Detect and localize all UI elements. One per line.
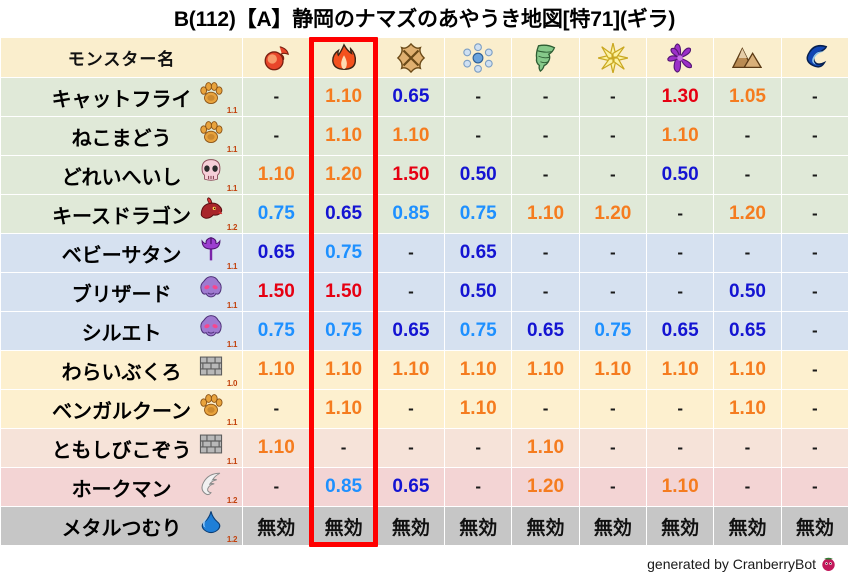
resistance-value: 1.10 — [392, 125, 429, 146]
resistance-value: - — [475, 126, 481, 145]
resistance-value: - — [543, 243, 549, 262]
resistance-cell[interactable]: 1.20 — [714, 195, 780, 233]
header-cell-fireball[interactable] — [243, 38, 309, 77]
monster-name-label: どれいへいし — [62, 161, 182, 190]
resistance-value: - — [812, 360, 818, 379]
resistance-value: - — [812, 87, 818, 106]
resistance-value: 0.85 — [392, 203, 429, 224]
resistance-value: 0.75 — [325, 320, 362, 341]
resistance-value: 1.50 — [325, 281, 362, 302]
resistance-cell[interactable]: - — [714, 468, 780, 506]
resistance-value: 1.10 — [325, 359, 362, 380]
monster-rank-badge: 1.1 — [192, 236, 238, 270]
dark-icon — [665, 43, 695, 73]
resistance-value: 1.10 — [325, 125, 362, 146]
resistance-value: 1.10 — [460, 359, 497, 380]
monster-name-label: シルエト — [82, 317, 162, 346]
resistance-cell[interactable]: - — [580, 156, 646, 194]
resistance-value: 0.65 — [392, 320, 429, 341]
resistance-cell[interactable]: - — [647, 234, 713, 272]
resistance-value: 1.10 — [527, 359, 564, 380]
resistance-value: 無効 — [459, 518, 497, 539]
resistance-value: 1.10 — [729, 398, 766, 419]
resistance-cell[interactable]: - — [580, 429, 646, 467]
resistance-cell[interactable]: 0.65 — [378, 78, 444, 116]
resistance-cell[interactable]: 0.75 — [243, 195, 309, 233]
resistance-value: 0.75 — [258, 320, 295, 341]
resistance-value: 0.75 — [325, 242, 362, 263]
resistance-cell[interactable]: - — [243, 78, 309, 116]
resistance-value: - — [408, 282, 414, 301]
resistance-value: 1.20 — [594, 203, 631, 224]
resistance-value: - — [610, 399, 616, 418]
resistance-cell[interactable]: - — [512, 156, 578, 194]
resistance-cell[interactable]: - — [378, 390, 444, 428]
resistance-cell[interactable]: 1.10 — [512, 195, 578, 233]
table-row: ホークマン1.2-0.850.65-1.20-1.10-- — [1, 468, 848, 506]
resistance-cell[interactable]: - — [714, 156, 780, 194]
resistance-value: 1.10 — [662, 125, 699, 146]
resistance-value: - — [543, 87, 549, 106]
resistance-value: - — [273, 477, 279, 496]
page-title: B(112)【A】静岡のナマズのあやうき地図[特71](ギラ) — [0, 4, 849, 36]
resistance-value: 無効 — [661, 518, 699, 539]
table-row: キースドラゴン1.20.750.650.850.751.101.20-1.20- — [1, 195, 848, 233]
resistance-cell[interactable]: 0.65 — [647, 312, 713, 350]
resistance-cell[interactable]: 無効 — [378, 507, 444, 545]
resistance-value: 0.65 — [662, 320, 699, 341]
resistance-cell[interactable]: - — [580, 117, 646, 155]
resistance-value: 0.65 — [460, 242, 497, 263]
resistance-cell[interactable]: 0.75 — [580, 312, 646, 350]
monster-level-label: 1.1 — [227, 262, 237, 271]
monster-name-label: ブリザード — [72, 278, 172, 307]
resistance-value: 1.05 — [729, 86, 766, 107]
resistance-cell[interactable]: 1.10 — [310, 351, 376, 389]
monster-name-cell[interactable]: キャットフライ1.1 — [1, 78, 242, 116]
resistance-cell[interactable]: - — [782, 312, 848, 350]
monster-name-label: ねこまどう — [72, 122, 172, 151]
resistance-cell[interactable]: 0.50 — [445, 273, 511, 311]
resistance-cell[interactable]: 0.50 — [714, 273, 780, 311]
resistance-value: - — [475, 438, 481, 457]
resistance-value: 1.10 — [392, 359, 429, 380]
resistance-cell[interactable]: 0.65 — [243, 234, 309, 272]
resistance-cell[interactable]: - — [445, 468, 511, 506]
resistance-cell[interactable]: 1.10 — [310, 390, 376, 428]
resistance-value: 1.10 — [662, 476, 699, 497]
resistance-value: 0.65 — [729, 320, 766, 341]
resistance-value: - — [745, 243, 751, 262]
resistance-cell[interactable]: 1.10 — [714, 390, 780, 428]
resistance-cell[interactable]: - — [782, 273, 848, 311]
resistance-value: 無効 — [257, 518, 295, 539]
resistance-value: - — [475, 477, 481, 496]
monster-rank-badge: 1.1 — [192, 314, 238, 348]
resistance-cell[interactable]: 1.20 — [512, 468, 578, 506]
resistance-cell[interactable]: 無効 — [243, 507, 309, 545]
resistance-value: - — [812, 126, 818, 145]
resistance-cell[interactable]: - — [782, 429, 848, 467]
tornado-icon — [531, 43, 561, 73]
monster-name-cell[interactable]: シルエト1.1 — [1, 312, 242, 350]
header-cell-dark[interactable] — [647, 38, 713, 77]
resistance-cell[interactable]: 1.30 — [647, 78, 713, 116]
table-row: ベビーサタン1.10.650.75-0.65----- — [1, 234, 848, 272]
header-monster-name: モンスター名 — [1, 38, 242, 77]
resistance-cell[interactable]: - — [782, 117, 848, 155]
resistance-value: - — [812, 399, 818, 418]
resistance-value: 1.10 — [460, 398, 497, 419]
wave-icon — [800, 43, 830, 73]
resistance-value: 1.10 — [258, 359, 295, 380]
resistance-cell[interactable]: 1.10 — [243, 351, 309, 389]
table-row: ねこまどう1.1-1.101.10---1.10-- — [1, 117, 848, 155]
resistance-value: 1.10 — [325, 86, 362, 107]
resistance-cell[interactable]: - — [445, 78, 511, 116]
brick-icon — [196, 431, 226, 465]
resistance-value: 0.75 — [460, 203, 497, 224]
monster-level-label: 1.1 — [227, 145, 237, 154]
resistance-value: - — [543, 165, 549, 184]
resistance-table-page: B(112)【A】静岡のナマズのあやうき地図[特71](ギラ) モンスター名キャ… — [0, 0, 849, 583]
resistance-value: - — [610, 282, 616, 301]
paw-icon — [196, 80, 226, 114]
resistance-cell[interactable]: - — [647, 195, 713, 233]
resistance-value: 1.50 — [258, 281, 295, 302]
resistance-value: 1.10 — [325, 398, 362, 419]
footer-credit: generated by CranberryBot — [647, 555, 837, 577]
cranberry-svg — [820, 555, 837, 572]
resistance-value: - — [812, 165, 818, 184]
monster-level-label: 1.1 — [227, 106, 237, 115]
monster-rank-badge: 1.2 — [192, 470, 238, 504]
monster-name-cell[interactable]: ホークマン1.2 — [1, 468, 242, 506]
monster-name-label: キースドラゴン — [52, 200, 191, 229]
table-row: わらいぶくろ1.01.101.101.101.101.101.101.101.1… — [1, 351, 848, 389]
table-body: モンスター名キャットフライ1.1-1.100.65---1.301.05-ねこま… — [1, 38, 848, 545]
resistance-value: 1.10 — [662, 359, 699, 380]
resistance-cell[interactable]: 無効 — [714, 507, 780, 545]
ghost-icon — [196, 275, 226, 309]
resistance-value: 0.65 — [392, 476, 429, 497]
monster-level-label: 1.1 — [227, 457, 237, 466]
resistance-value: 1.10 — [527, 437, 564, 458]
resistance-cell[interactable]: 無効 — [445, 507, 511, 545]
monster-rank-badge: 1.1 — [192, 80, 238, 114]
wing-icon — [196, 470, 226, 504]
resistance-value: 1.50 — [392, 164, 429, 185]
monster-rank-badge: 1.2 — [192, 197, 238, 231]
resistance-value: - — [610, 243, 616, 262]
monster-rank-badge: 1.1 — [192, 392, 238, 426]
mountain-icon — [732, 43, 762, 73]
resistance-cell[interactable]: - — [580, 234, 646, 272]
header-cell-mountain[interactable] — [714, 38, 780, 77]
resistance-value: - — [745, 126, 751, 145]
resistance-cell[interactable]: 無効 — [782, 507, 848, 545]
resistance-value: 0.50 — [729, 281, 766, 302]
resistance-value: 1.30 — [662, 86, 699, 107]
resistance-cell[interactable]: 0.75 — [310, 234, 376, 272]
resistance-value: - — [543, 399, 549, 418]
resistance-value: 0.65 — [258, 242, 295, 263]
resistance-value: - — [273, 126, 279, 145]
resistance-cell[interactable]: - — [378, 429, 444, 467]
resistance-value: - — [273, 399, 279, 418]
resistance-cell[interactable]: - — [580, 390, 646, 428]
monster-name-cell[interactable]: ベンガルクーン1.1 — [1, 390, 242, 428]
paw-icon — [196, 392, 226, 426]
resistance-value: 0.85 — [325, 476, 362, 497]
resistance-value: 無効 — [796, 518, 834, 539]
resistance-cell[interactable]: 0.65 — [512, 312, 578, 350]
resistance-value: - — [812, 282, 818, 301]
cranberry-icon — [820, 555, 837, 577]
resistance-value: 無効 — [594, 518, 632, 539]
resistance-cell[interactable]: 1.50 — [243, 273, 309, 311]
resistance-value: 0.65 — [325, 203, 362, 224]
monster-name-cell[interactable]: メタルつむり1.2 — [1, 507, 242, 545]
resistance-cell[interactable]: - — [782, 195, 848, 233]
brick-icon — [196, 353, 226, 387]
monster-level-label: 1.1 — [227, 418, 237, 427]
resistance-cell[interactable]: 0.50 — [647, 156, 713, 194]
resistance-value: 1.10 — [527, 203, 564, 224]
slime-icon — [196, 509, 226, 543]
monster-level-label: 1.1 — [227, 184, 237, 193]
resistance-table: モンスター名キャットフライ1.1-1.100.65---1.301.05-ねこま… — [0, 37, 849, 546]
resistance-value: - — [610, 87, 616, 106]
resistance-cell[interactable]: 0.85 — [378, 195, 444, 233]
monster-level-label: 1.1 — [227, 301, 237, 310]
resistance-cell[interactable]: - — [378, 234, 444, 272]
resistance-cell[interactable]: 0.75 — [445, 312, 511, 350]
resistance-cell[interactable]: 1.10 — [580, 351, 646, 389]
resistance-cell[interactable]: 1.10 — [445, 351, 511, 389]
monster-name-cell[interactable]: ベビーサタン1.1 — [1, 234, 242, 272]
resistance-value: - — [341, 438, 347, 457]
resistance-cell[interactable]: - — [580, 273, 646, 311]
resistance-value: - — [408, 243, 414, 262]
table-row: シルエト1.10.750.750.650.750.650.750.650.65- — [1, 312, 848, 350]
resistance-cell[interactable]: 無効 — [512, 507, 578, 545]
resistance-cell[interactable]: 1.10 — [512, 351, 578, 389]
table-row: メタルつむり1.2無効無効無効無効無効無効無効無効無効 — [1, 507, 848, 545]
resistance-cell[interactable]: - — [512, 273, 578, 311]
resistance-value: 無効 — [728, 518, 766, 539]
monster-name-cell[interactable]: わらいぶくろ1.0 — [1, 351, 242, 389]
resistance-value: - — [812, 438, 818, 457]
resistance-value: 0.65 — [527, 320, 564, 341]
monster-rank-badge: 1.1 — [192, 275, 238, 309]
resistance-cell[interactable]: 1.50 — [310, 273, 376, 311]
resistance-cell[interactable]: - — [782, 234, 848, 272]
resistance-cell[interactable]: 0.85 — [310, 468, 376, 506]
resistance-cell[interactable]: 1.10 — [243, 429, 309, 467]
resistance-cell[interactable]: - — [714, 234, 780, 272]
resistance-value: - — [812, 321, 818, 340]
resistance-value: 1.20 — [325, 164, 362, 185]
resistance-cell[interactable]: - — [647, 390, 713, 428]
monster-name-label: わらいぶくろ — [62, 356, 182, 385]
resistance-cell[interactable]: 1.10 — [378, 117, 444, 155]
monster-name-cell[interactable]: ねこまどう1.1 — [1, 117, 242, 155]
resistance-cell[interactable]: - — [378, 273, 444, 311]
monster-name-label: ホークマン — [72, 473, 172, 502]
resistance-cell[interactable]: 無効 — [310, 507, 376, 545]
resistance-cell[interactable]: - — [580, 78, 646, 116]
flame-icon — [329, 43, 359, 73]
header-cell-explosion[interactable] — [378, 38, 444, 77]
resistance-cell[interactable]: 1.10 — [243, 156, 309, 194]
resistance-value: - — [408, 399, 414, 418]
resistance-cell[interactable]: 0.65 — [714, 312, 780, 350]
resistance-value: 0.75 — [258, 203, 295, 224]
resistance-cell[interactable]: - — [782, 468, 848, 506]
resistance-cell[interactable]: 0.65 — [310, 195, 376, 233]
paw-icon — [196, 119, 226, 153]
resistance-cell[interactable]: 1.10 — [714, 351, 780, 389]
monster-level-label: 1.2 — [227, 496, 237, 505]
monster-name-cell[interactable]: ともしびこぞう1.1 — [1, 429, 242, 467]
monster-name-label: メタルつむり — [62, 512, 182, 541]
resistance-value: 無効 — [325, 518, 363, 539]
resistance-value: - — [745, 165, 751, 184]
resistance-cell[interactable]: 1.10 — [310, 78, 376, 116]
resistance-cell[interactable]: 0.75 — [310, 312, 376, 350]
monster-rank-badge: 1.1 — [192, 158, 238, 192]
monster-level-label: 1.1 — [227, 340, 237, 349]
resistance-value: - — [475, 87, 481, 106]
resistance-cell[interactable]: - — [512, 117, 578, 155]
resistance-value: - — [677, 438, 683, 457]
resistance-value: - — [543, 126, 549, 145]
resistance-cell[interactable]: - — [782, 78, 848, 116]
resistance-cell[interactable]: - — [512, 78, 578, 116]
table-row: どれいへいし1.11.101.201.500.50--0.50-- — [1, 156, 848, 194]
monster-level-label: 1.2 — [227, 535, 237, 544]
resistance-cell[interactable]: 1.10 — [647, 468, 713, 506]
resistance-cell[interactable]: - — [445, 429, 511, 467]
resistance-cell[interactable]: - — [512, 234, 578, 272]
monster-name-cell[interactable]: キースドラゴン1.2 — [1, 195, 242, 233]
header-cell-tornado[interactable] — [512, 38, 578, 77]
resistance-cell[interactable]: - — [512, 390, 578, 428]
resistance-value: 1.10 — [258, 164, 295, 185]
resistance-value: 0.65 — [392, 86, 429, 107]
resistance-cell[interactable]: - — [243, 117, 309, 155]
table-row: ベンガルクーン1.1-1.10-1.10---1.10- — [1, 390, 848, 428]
resistance-cell[interactable]: 無効 — [580, 507, 646, 545]
resistance-cell[interactable]: - — [580, 468, 646, 506]
table-row: ともしびこぞう1.11.10---1.10---- — [1, 429, 848, 467]
resistance-cell[interactable]: 1.20 — [310, 156, 376, 194]
resistance-value: - — [745, 477, 751, 496]
monster-rank-badge: 1.1 — [192, 119, 238, 153]
resistance-cell[interactable]: 無効 — [647, 507, 713, 545]
resistance-value: - — [677, 399, 683, 418]
snowflake-icon — [463, 43, 493, 73]
dragon-icon — [196, 197, 226, 231]
resistance-cell[interactable]: 1.05 — [714, 78, 780, 116]
resistance-value: 0.50 — [662, 164, 699, 185]
resistance-value: - — [408, 438, 414, 457]
resistance-cell[interactable]: 1.10 — [445, 390, 511, 428]
resistance-value: 1.10 — [258, 437, 295, 458]
resistance-cell[interactable]: - — [714, 117, 780, 155]
light-icon — [598, 43, 628, 73]
header-cell-snowflake[interactable] — [445, 38, 511, 77]
explosion-icon — [396, 43, 426, 73]
resistance-cell[interactable]: - — [243, 390, 309, 428]
resistance-value: - — [812, 204, 818, 223]
resistance-cell[interactable]: 1.10 — [310, 117, 376, 155]
resistance-cell[interactable]: 1.10 — [647, 351, 713, 389]
resistance-cell[interactable]: 0.65 — [378, 468, 444, 506]
resistance-cell[interactable]: - — [445, 117, 511, 155]
resistance-cell[interactable]: 1.10 — [512, 429, 578, 467]
resistance-cell[interactable]: - — [782, 390, 848, 428]
monster-level-label: 1.0 — [227, 379, 237, 388]
monster-rank-badge: 1.1 — [192, 431, 238, 465]
monster-name-cell[interactable]: どれいへいし1.1 — [1, 156, 242, 194]
resistance-cell[interactable]: 1.10 — [378, 351, 444, 389]
resistance-cell[interactable]: - — [714, 429, 780, 467]
resistance-value: - — [677, 282, 683, 301]
resistance-value: 無効 — [527, 518, 565, 539]
resistance-cell[interactable]: 0.65 — [445, 234, 511, 272]
monster-name-label: ベビーサタン — [62, 239, 182, 268]
monster-name-label: ベンガルクーン — [52, 395, 191, 424]
monster-name-label: キャットフライ — [52, 83, 192, 112]
table-row: ブリザード1.11.501.50-0.50---0.50- — [1, 273, 848, 311]
resistance-cell[interactable]: 0.75 — [243, 312, 309, 350]
resistance-cell[interactable]: 1.20 — [580, 195, 646, 233]
resistance-cell[interactable]: - — [782, 156, 848, 194]
resistance-value: - — [677, 243, 683, 262]
resistance-value: 0.50 — [460, 164, 497, 185]
trident-icon — [196, 236, 226, 270]
monster-rank-badge: 1.0 — [192, 353, 238, 387]
resistance-value: 1.20 — [527, 476, 564, 497]
resistance-cell[interactable]: 1.10 — [647, 117, 713, 155]
resistance-value: 1.20 — [729, 203, 766, 224]
header-cell-wave[interactable] — [782, 38, 848, 77]
monster-name-cell[interactable]: ブリザード1.1 — [1, 273, 242, 311]
skull-icon — [196, 158, 226, 192]
resistance-cell[interactable]: 0.75 — [445, 195, 511, 233]
resistance-cell[interactable]: 0.50 — [445, 156, 511, 194]
header-cell-light[interactable] — [580, 38, 646, 77]
table-row: キャットフライ1.1-1.100.65---1.301.05- — [1, 78, 848, 116]
footer-text: generated by CranberryBot — [647, 556, 816, 572]
resistance-cell[interactable]: - — [782, 351, 848, 389]
resistance-value: - — [610, 165, 616, 184]
resistance-cell[interactable]: - — [243, 468, 309, 506]
resistance-value: - — [677, 204, 683, 223]
resistance-cell[interactable]: - — [647, 429, 713, 467]
resistance-cell[interactable]: 0.65 — [378, 312, 444, 350]
resistance-value: 1.10 — [594, 359, 631, 380]
resistance-value: - — [610, 438, 616, 457]
header-cell-flame[interactable] — [310, 38, 376, 77]
resistance-cell[interactable]: - — [647, 273, 713, 311]
resistance-cell[interactable]: - — [310, 429, 376, 467]
resistance-value: - — [273, 87, 279, 106]
resistance-cell[interactable]: 1.50 — [378, 156, 444, 194]
resistance-value: - — [610, 477, 616, 496]
